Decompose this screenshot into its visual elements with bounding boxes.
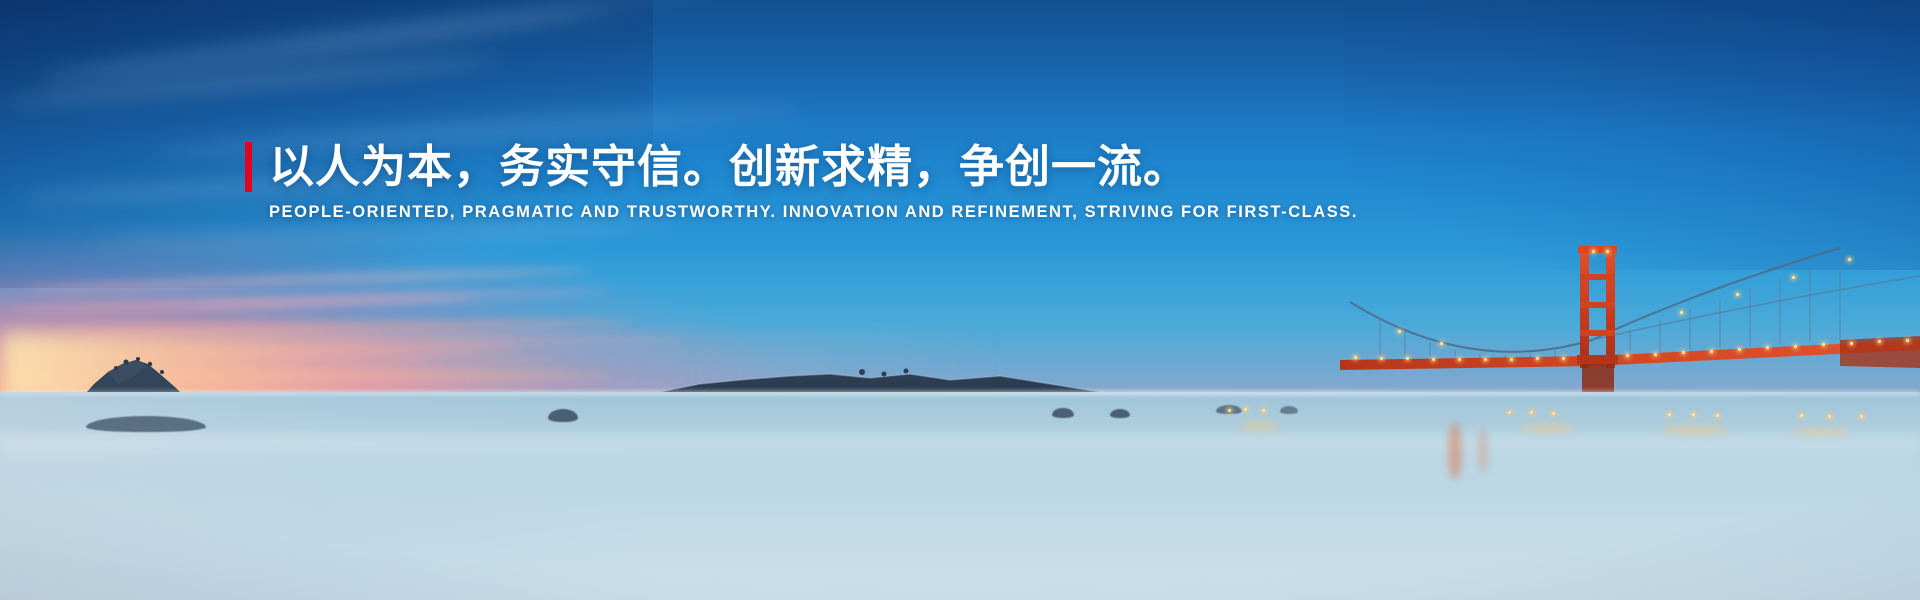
headline-row: 以人为本，务实守信。创新求精，争创一流。 (245, 142, 1358, 192)
banner-copy-block: 以人为本，务实守信。创新求精，争创一流。 PEOPLE-ORIENTED, PR… (245, 142, 1358, 222)
light-reflection (1660, 426, 1730, 434)
banner-subtitle: PEOPLE-ORIENTED, PRAGMATIC AND TRUSTWORT… (269, 203, 1358, 222)
water-rock (86, 416, 206, 432)
water-rock (548, 409, 578, 422)
water-rock (1280, 406, 1298, 414)
light-reflection (1790, 428, 1850, 436)
red-accent-bar (245, 142, 252, 192)
light-reflection (1520, 424, 1576, 432)
water-horizon-line (0, 391, 1920, 395)
water-rock (1110, 409, 1130, 418)
water-sheen (0, 434, 1920, 480)
banner-headline: 以人为本，务实守信。创新求精，争创一流。 (269, 142, 1189, 192)
water-rock (1052, 408, 1074, 418)
bridge-reflection (1448, 422, 1462, 480)
bridge-reflection (1478, 428, 1488, 474)
hero-banner: 以人为本，务实守信。创新求精，争创一流。 PEOPLE-ORIENTED, PR… (0, 0, 1920, 600)
light-reflection (1240, 422, 1280, 430)
